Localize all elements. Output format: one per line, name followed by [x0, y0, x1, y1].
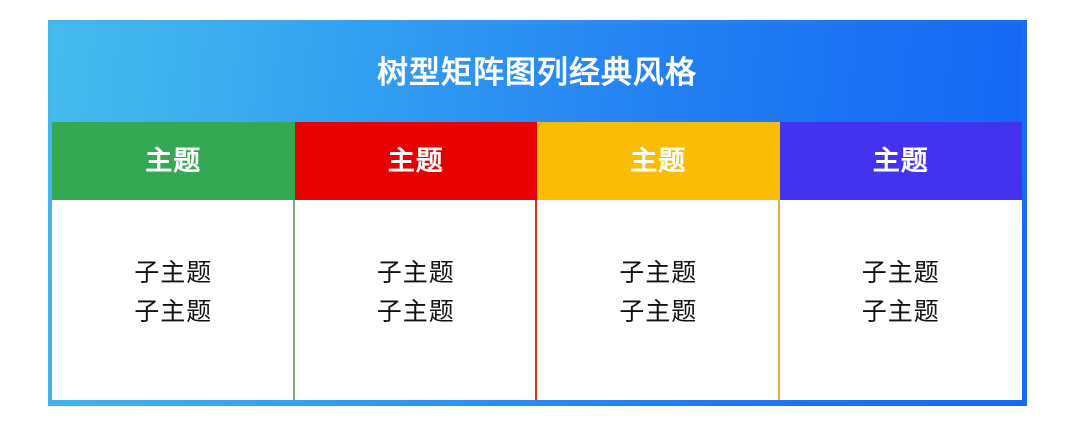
- column-body-4: 子主题 子主题: [780, 200, 1023, 400]
- diagram-title-band: 树型矩阵图列经典风格: [52, 24, 1022, 122]
- column-3-subtopic-1[interactable]: 子主题: [619, 254, 697, 293]
- column-1-subtopic-2[interactable]: 子主题: [134, 293, 212, 332]
- column-4-subtopic-2[interactable]: 子主题: [862, 293, 940, 332]
- column-4-subtopic-1[interactable]: 子主题: [862, 254, 940, 293]
- column-header-4[interactable]: 主题: [780, 122, 1023, 200]
- column-header-1[interactable]: 主题: [52, 122, 295, 200]
- diagram-column-4[interactable]: 主题 子主题 子主题: [780, 122, 1023, 400]
- column-3-subtopic-2[interactable]: 子主题: [619, 293, 697, 332]
- diagram-columns: 主题 子主题 子主题 主题 子主题 子主题 主题 子主题 子主: [52, 122, 1022, 400]
- tree-matrix-diagram: 树型矩阵图列经典风格 主题 子主题 子主题 主题 子主题 子主题: [48, 20, 1027, 406]
- column-1-subtopic-1[interactable]: 子主题: [134, 254, 212, 293]
- diagram-column-3[interactable]: 主题 子主题 子主题: [537, 122, 780, 400]
- column-2-subtopic-1[interactable]: 子主题: [377, 254, 455, 293]
- diagram-title: 树型矩阵图列经典风格: [52, 24, 1022, 122]
- column-body-2: 子主题 子主题: [295, 200, 538, 400]
- diagram-column-2[interactable]: 主题 子主题 子主题: [295, 122, 538, 400]
- diagram-inner-panel: 树型矩阵图列经典风格 主题 子主题 子主题 主题 子主题 子主题: [52, 24, 1022, 400]
- column-header-2[interactable]: 主题: [295, 122, 538, 200]
- column-2-subtopic-2[interactable]: 子主题: [377, 293, 455, 332]
- column-body-3: 子主题 子主题: [537, 200, 780, 400]
- diagram-column-1[interactable]: 主题 子主题 子主题: [52, 122, 295, 400]
- column-body-1: 子主题 子主题: [52, 200, 295, 400]
- column-header-3[interactable]: 主题: [537, 122, 780, 200]
